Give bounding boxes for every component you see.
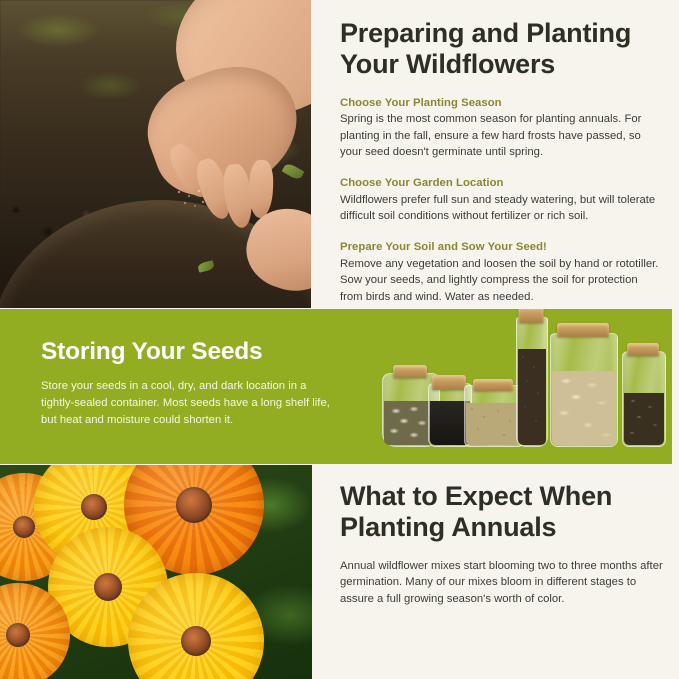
cork-lid-icon — [473, 379, 513, 391]
block-prepare-soil: Prepare Your Soil and Sow Your Seed! Rem… — [340, 240, 662, 305]
cork-lid-icon — [393, 365, 427, 378]
flower-center — [94, 573, 122, 601]
subheading-prepare-soil: Prepare Your Soil and Sow Your Seed! — [340, 240, 662, 255]
subheading-planting-season: Choose Your Planting Season — [340, 96, 662, 111]
expect-heading: What to Expect When Planting Annuals — [340, 465, 664, 544]
body-planting-season: Spring is the most common season for pla… — [340, 111, 662, 161]
seed-jar-tan-seeds — [464, 379, 522, 447]
preparing-heading: Preparing and Planting Your Wildflowers — [340, 0, 662, 81]
storing-text-column: Storing Your Seeds Store your seeds in a… — [41, 339, 341, 429]
seeds-in-palm — [173, 186, 215, 212]
finger — [248, 160, 274, 219]
expect-body: Annual wildflower mixes start blooming t… — [340, 558, 664, 608]
section-what-to-expect: What to Expect When Planting Annuals Ann… — [0, 465, 679, 679]
cork-lid-icon — [557, 323, 609, 337]
seed-jar-striped-seeds — [622, 343, 664, 447]
flower-center — [176, 487, 212, 523]
jar-glass — [550, 333, 618, 447]
block-planting-season: Choose Your Planting Season Spring is th… — [340, 96, 662, 161]
jar-glass — [464, 385, 524, 447]
block-garden-location: Choose Your Garden Location Wildflowers … — [340, 176, 662, 225]
body-garden-location: Wildflowers prefer full sun and steady w… — [340, 192, 662, 225]
jar-contents — [466, 403, 522, 445]
flower-center — [13, 516, 35, 538]
subheading-garden-location: Choose Your Garden Location — [340, 176, 662, 191]
seed-jar-tall-tube — [516, 309, 546, 447]
expect-text-column: What to Expect When Planting Annuals Ann… — [340, 465, 664, 607]
seed-jars-photo — [382, 311, 662, 461]
flower-center — [6, 623, 30, 647]
storing-body: Store your seeds in a cool, dry, and dar… — [41, 378, 341, 429]
jar-glass — [516, 317, 548, 447]
jar-contents — [552, 371, 616, 445]
infographic-page: Preparing and Planting Your Wildflowers … — [0, 0, 679, 679]
flower-center — [181, 626, 211, 656]
jar-contents — [624, 393, 664, 445]
section-preparing-and-planting: Preparing and Planting Your Wildflowers … — [0, 0, 679, 308]
preparing-text-column: Preparing and Planting Your Wildflowers … — [340, 0, 662, 308]
section-storing-your-seeds: Storing Your Seeds Store your seeds in a… — [0, 309, 672, 464]
soil-planting-photo — [0, 0, 311, 308]
seed-jar-large-pale-seeds — [550, 323, 616, 447]
wildflower-photo — [0, 465, 312, 679]
flower-center — [81, 494, 107, 520]
body-prepare-soil: Remove any vegetation and loosen the soi… — [340, 256, 662, 306]
cork-lid-icon — [627, 343, 659, 356]
jar-contents — [518, 349, 546, 445]
storing-heading: Storing Your Seeds — [41, 339, 341, 366]
cork-lid-icon — [519, 309, 544, 323]
cork-lid-icon — [432, 375, 466, 390]
jar-glass — [622, 351, 666, 447]
